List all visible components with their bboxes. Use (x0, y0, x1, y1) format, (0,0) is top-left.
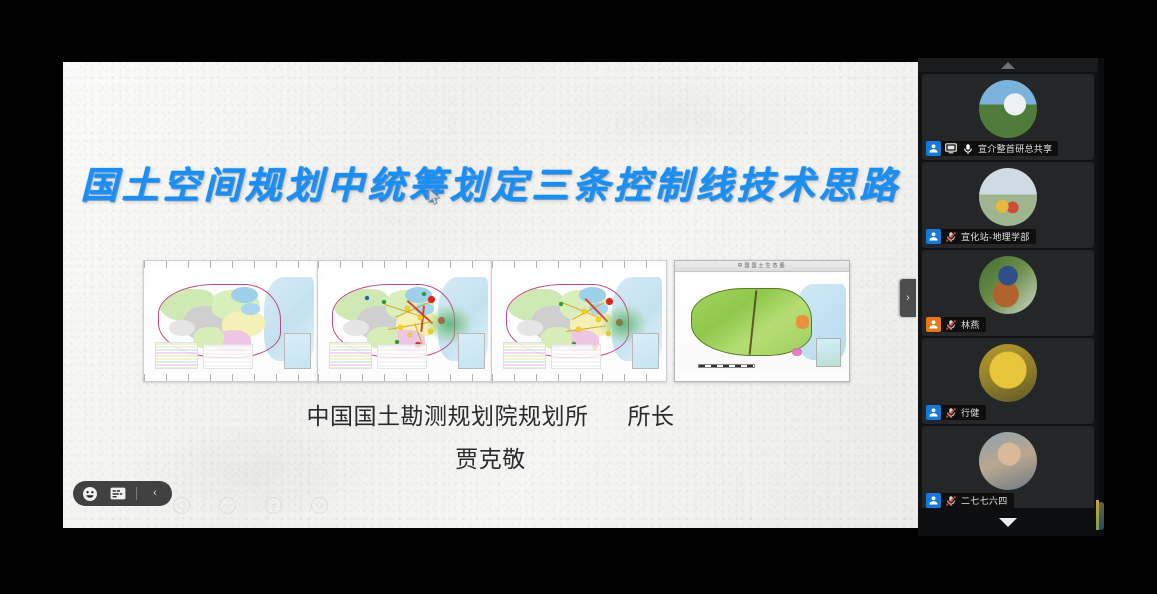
person-icon (926, 493, 941, 508)
roster-scroll-up-button[interactable] (918, 58, 1098, 72)
avatar (979, 432, 1037, 490)
person-icon (926, 141, 941, 156)
avatar (979, 168, 1037, 226)
southern-hotspot (792, 348, 802, 357)
emoji-icon[interactable] (77, 483, 103, 504)
map-inset-south-sea (816, 338, 841, 367)
map-ruler-top (492, 261, 666, 268)
map-ruler-top (318, 261, 492, 268)
slide-map-gallery: 中国国土生态图 (143, 260, 848, 382)
ghost-icon-row: ▢ ◌ ≡ ◇ (173, 497, 328, 514)
toolbar-divider (136, 487, 137, 500)
person-icon (926, 229, 941, 244)
mic-icon (961, 141, 975, 156)
camera-icon: ▢ (173, 497, 190, 514)
slide-affiliation: 中国国土勘测规划院规划所 所长 (63, 397, 918, 431)
avatar (979, 344, 1037, 402)
map-legend-secondary (551, 344, 601, 369)
mouse-cursor (428, 188, 442, 206)
mic-muted-icon (944, 317, 958, 332)
map-ruler-bottom (492, 374, 666, 381)
china-landuse-map (143, 260, 319, 382)
mic-muted-icon (944, 493, 958, 508)
china-terrain-map: 中国国土生态图 (674, 260, 850, 382)
participant-roster: 宣介整首研总共享宣化站-地理学部林燕行健二七七六四 (918, 58, 1098, 536)
mic-muted-icon (944, 229, 958, 244)
participant-name: 宣介整首研总共享 (978, 142, 1052, 155)
list-icon: ≡ (265, 497, 282, 514)
map-ruler-bottom (144, 374, 318, 381)
map-inset-south-sea (632, 333, 659, 368)
person-icon (926, 405, 941, 420)
participant-badge: 林燕 (926, 317, 986, 332)
participant-tile-list: 宣介整首研总共享宣化站-地理学部林燕行健二七七六四 (918, 72, 1098, 508)
participant-badge: 二七七六四 (926, 493, 1014, 508)
chevron-right-icon: › (906, 292, 910, 304)
participant-tile[interactable]: 林燕 (922, 250, 1094, 336)
chevron-left-icon[interactable]: ‹ (142, 483, 168, 504)
search-icon: ◌ (219, 497, 236, 514)
map-inset-south-sea (458, 333, 485, 368)
captions-icon[interactable] (105, 483, 131, 504)
collapse-roster-handle[interactable]: › (900, 279, 916, 317)
participant-name: 宣化站-地理学部 (961, 230, 1030, 243)
participant-tile[interactable]: 宣化站-地理学部 (922, 162, 1094, 248)
triangle-up-icon (1001, 62, 1015, 69)
avatar (979, 256, 1037, 314)
triangle-down-icon (999, 518, 1017, 527)
chat-icon: ◇ (311, 497, 328, 514)
share-floating-toolbar[interactable]: ‹ (73, 481, 172, 506)
china-network-map-a (317, 260, 493, 382)
china-network-map-b (491, 260, 667, 382)
map-legend-secondary (203, 344, 253, 369)
screen-share-stage[interactable]: 国土空间规划中统筹划定三条控制线技术思路 (63, 62, 918, 528)
map-legend (155, 342, 198, 369)
avatar (979, 80, 1037, 138)
video-conference-window: 国土空间规划中统筹划定三条控制线技术思路 (0, 0, 1157, 594)
map-ruler-bottom (318, 374, 492, 381)
map-legend (329, 342, 372, 369)
coastal-hotspot (796, 315, 809, 329)
map-legend (503, 342, 546, 369)
participant-badge: 宣介整首研总共享 (926, 141, 1058, 156)
map-legend-secondary (377, 344, 427, 369)
collapse-toolbar-label: ‹ (153, 488, 157, 499)
person-icon (926, 317, 941, 332)
participant-badge: 宣化站-地理学部 (926, 229, 1036, 244)
map-scale-bar (698, 364, 755, 368)
slide-presenter-name: 贾克敬 (63, 440, 918, 474)
participant-name: 行健 (961, 406, 980, 419)
terrain-map-caption: 中国国土生态图 (675, 261, 849, 272)
participant-name: 林燕 (961, 318, 980, 331)
participant-name: 二七七六四 (961, 494, 1008, 507)
roster-accent-strip (1096, 500, 1099, 530)
slide-title: 国土空间规划中统筹划定三条控制线技术思路 (63, 155, 918, 209)
map-inset-south-sea (284, 333, 311, 368)
participant-tile[interactable]: 行健 (922, 338, 1094, 424)
roster-scrollbar[interactable] (1098, 58, 1104, 536)
map-ruler-top (144, 261, 318, 268)
participant-tile[interactable]: 二七七六四 (922, 426, 1094, 508)
mic-muted-icon (944, 405, 958, 420)
roster-scroll-down-button[interactable] (918, 508, 1098, 536)
screen-share-icon (944, 141, 958, 156)
participant-tile[interactable]: 宣介整首研总共享 (922, 74, 1094, 160)
participant-badge: 行健 (926, 405, 986, 420)
